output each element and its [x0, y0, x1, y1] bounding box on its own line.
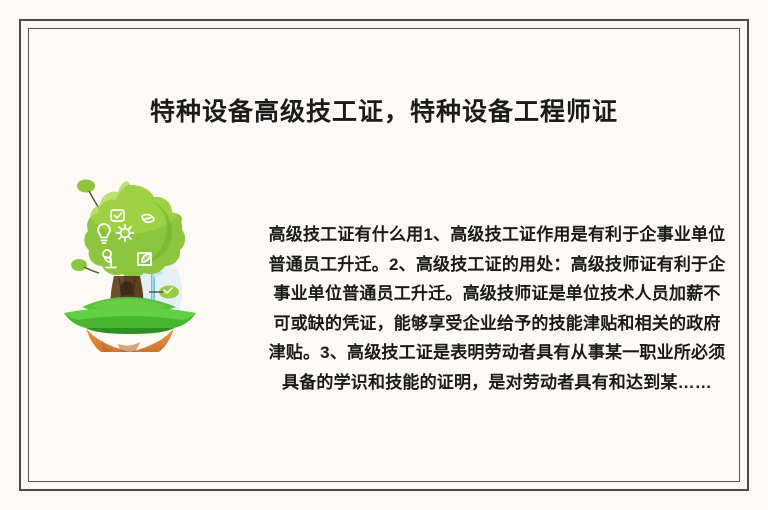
article-page: 特种设备高级技工证，特种设备工程师证: [0, 0, 768, 510]
tree-canopy: [84, 181, 185, 277]
page-title: 特种设备高级技工证，特种设备工程师证: [0, 95, 768, 129]
article-body-text: 高级技工证有什么用1、高级技工证作用是有利于企事业单位普通员工升迁。2、高级技工…: [268, 220, 726, 397]
floating-platform: [64, 307, 196, 334]
eco-tree-island-illustration: [56, 172, 204, 352]
eco-tree-island-svg: [56, 172, 204, 352]
